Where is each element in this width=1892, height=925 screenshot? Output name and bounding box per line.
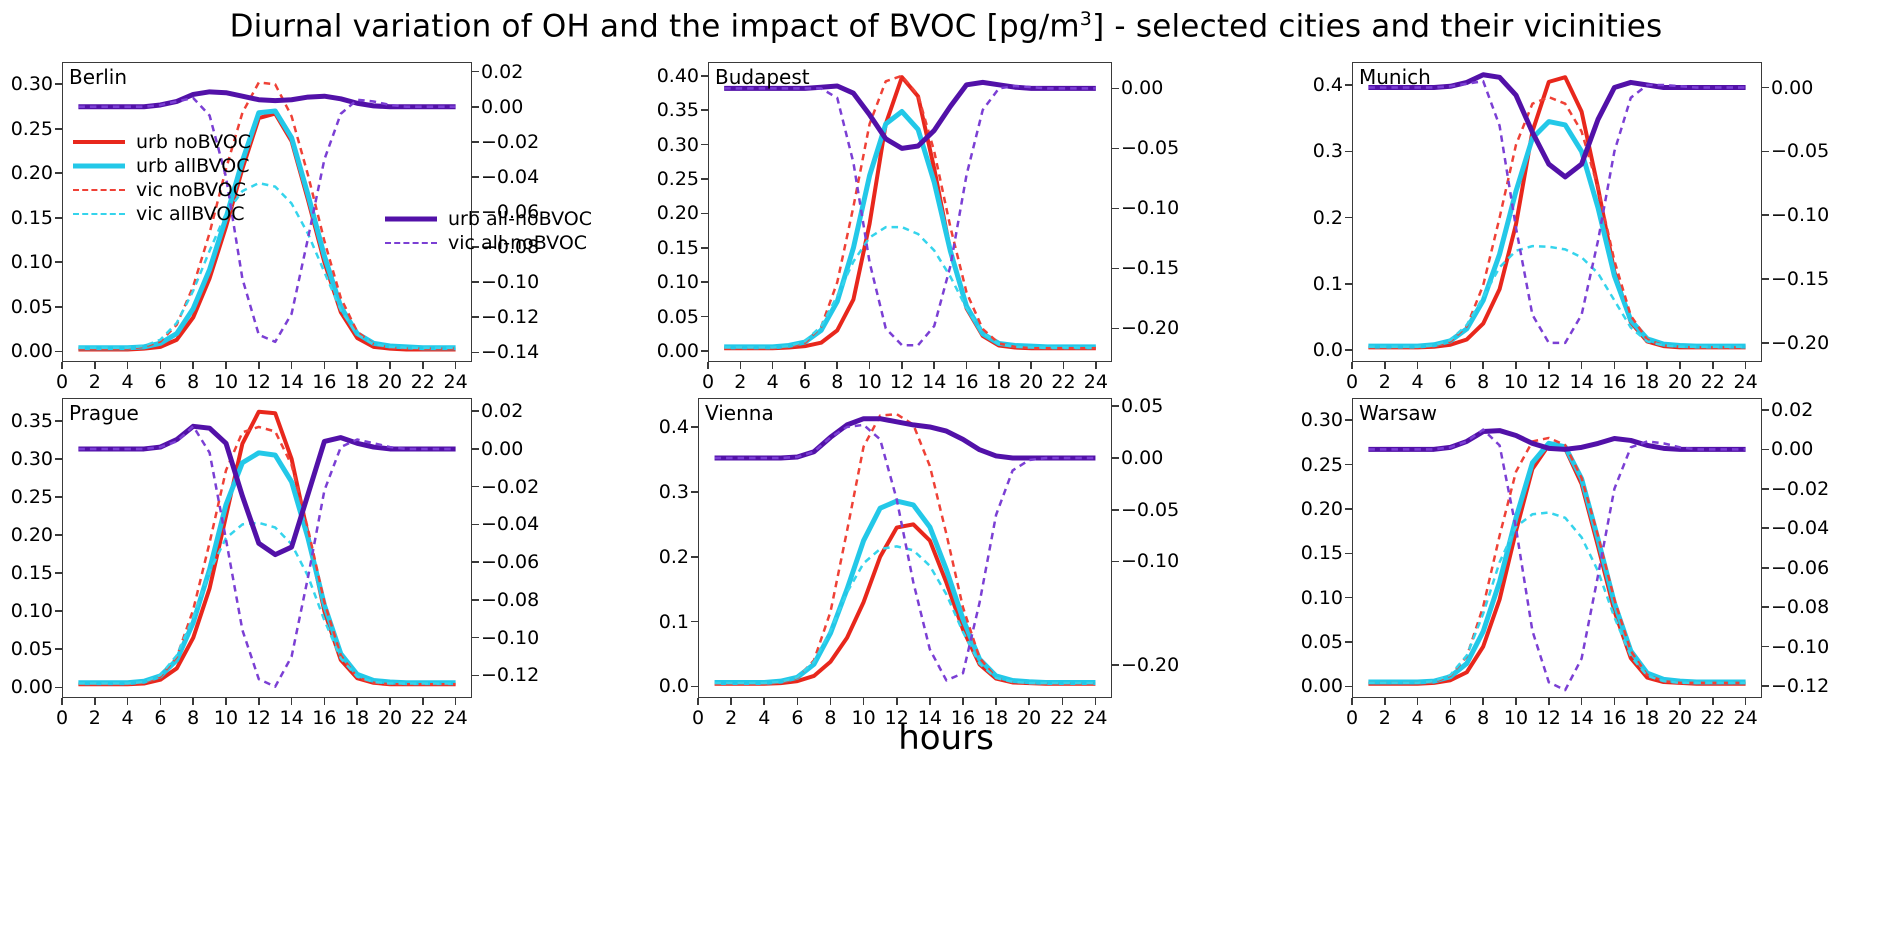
x-tick-mark xyxy=(863,698,865,705)
legend-label: urb allBVOC xyxy=(136,155,250,177)
x-tick-mark xyxy=(869,362,871,369)
y-tick-label-left: 0.20 xyxy=(1301,498,1343,520)
y-tick-label-left: 0.2 xyxy=(1313,207,1343,229)
x-tick-mark xyxy=(1351,362,1353,369)
y-tick-mark-left xyxy=(55,534,62,536)
x-tick-mark xyxy=(1745,362,1747,369)
x-tick-mark xyxy=(1417,362,1419,369)
series-line-vic-all-nobvoc xyxy=(1368,81,1745,343)
x-tick-label: 4 xyxy=(1412,371,1424,393)
y-tick-mark-left xyxy=(1345,217,1352,219)
x-tick-mark xyxy=(1646,362,1648,369)
legend-swatch-icon xyxy=(73,136,125,148)
series-line-vic-nobvoc xyxy=(78,427,455,684)
x-tick-mark xyxy=(1515,362,1517,369)
x-tick-mark xyxy=(160,362,162,369)
x-tick-label: 14 xyxy=(922,371,946,393)
y-tick-mark-right xyxy=(1762,449,1769,451)
x-tick-label: 0 xyxy=(1346,371,1358,393)
x-tick-label: 20 xyxy=(378,371,402,393)
x-tick-mark xyxy=(1450,698,1452,705)
y-tick-mark-right xyxy=(1112,561,1119,563)
y-tick-mark-right xyxy=(1762,278,1769,280)
x-tick-mark xyxy=(160,698,162,705)
x-tick-mark xyxy=(324,362,326,369)
x-tick-mark xyxy=(389,362,391,369)
x-tick-label: 24 xyxy=(444,371,468,393)
x-tick-mark xyxy=(1028,698,1030,705)
x-tick-mark xyxy=(389,698,391,705)
x-tick-label: 18 xyxy=(987,371,1011,393)
y-tick-mark-left xyxy=(691,686,698,688)
y-tick-label-left: 0.00 xyxy=(11,340,53,362)
panel-title-budapest: Budapest xyxy=(715,65,810,89)
y-tick-label-right: −0.12 xyxy=(481,664,539,686)
x-tick-label: 2 xyxy=(1379,371,1391,393)
y-tick-label-left: 0.30 xyxy=(657,134,699,156)
y-tick-mark-left xyxy=(691,491,698,493)
y-tick-mark-left xyxy=(1345,419,1352,421)
x-tick-mark xyxy=(1745,698,1747,705)
x-tick-mark xyxy=(896,698,898,705)
y-tick-label-right: −0.05 xyxy=(1121,137,1179,159)
x-tick-label: 2 xyxy=(89,371,101,393)
y-tick-mark-left xyxy=(1345,349,1352,351)
y-tick-label-right: −0.05 xyxy=(1771,140,1829,162)
y-tick-label-left: 0.05 xyxy=(657,306,699,328)
x-tick-mark xyxy=(356,362,358,369)
y-tick-mark-left xyxy=(1345,553,1352,555)
y-tick-label-left: 0.20 xyxy=(11,524,53,546)
y-tick-label-left: 0.20 xyxy=(11,162,53,184)
legend-swatch-icon xyxy=(385,213,437,225)
y-tick-mark-right xyxy=(472,524,479,526)
y-tick-mark-right xyxy=(472,106,479,108)
y-tick-mark-left xyxy=(691,426,698,428)
x-tick-label: 6 xyxy=(1444,371,1456,393)
y-tick-mark-right xyxy=(1112,457,1119,459)
y-tick-label-right: −0.02 xyxy=(1771,478,1829,500)
x-tick-label: 10 xyxy=(858,371,882,393)
x-tick-mark xyxy=(1581,362,1583,369)
y-tick-mark-right xyxy=(1762,87,1769,89)
y-tick-label-right: −0.14 xyxy=(481,341,539,363)
panel-vienna: Vienna0.00.10.20.30.40.050.00−0.05−0.10−… xyxy=(698,398,1112,698)
y-tick-mark-right xyxy=(1762,488,1769,490)
legend-label: urb noBVOC xyxy=(136,131,251,153)
y-tick-label-left: 0.25 xyxy=(11,118,53,140)
y-tick-mark-left xyxy=(701,178,708,180)
series-line-vic-all-nobvoc xyxy=(724,86,1096,345)
y-tick-label-right: −0.12 xyxy=(1771,675,1829,697)
figure-title-exponent: 3 xyxy=(1080,8,1092,30)
x-tick-mark xyxy=(61,362,63,369)
series-line-urb-all-nobvoc xyxy=(1368,431,1745,450)
panel-munich: Munich0.00.10.20.30.40.00−0.05−0.10−0.15… xyxy=(1352,62,1762,362)
x-tick-mark xyxy=(836,362,838,369)
y-tick-label-right: −0.10 xyxy=(1121,550,1179,572)
y-tick-mark-right xyxy=(1112,88,1119,90)
y-tick-label-right: 0.05 xyxy=(1121,395,1163,417)
figure-title-suffix: ] - selected cities and their vicinities xyxy=(1092,8,1662,44)
y-tick-label-left: 0.4 xyxy=(1313,74,1343,96)
x-tick-mark xyxy=(730,698,732,705)
y-tick-label-left: 0.0 xyxy=(659,675,689,697)
x-tick-label: 8 xyxy=(187,371,199,393)
y-tick-label-right: −0.20 xyxy=(1771,332,1829,354)
series-line-vic-allbvoc xyxy=(724,227,1096,347)
legend-label: vic allBVOC xyxy=(136,203,245,225)
y-tick-mark-left xyxy=(1345,508,1352,510)
y-axis-right-budapest: 0.00−0.05−0.10−0.15−0.20 xyxy=(1121,62,1199,362)
x-tick-mark xyxy=(804,362,806,369)
y-tick-mark-right xyxy=(1112,268,1119,270)
y-tick-label-right: −0.04 xyxy=(1771,517,1829,539)
x-tick-mark xyxy=(1417,698,1419,705)
x-tick-label: 14 xyxy=(1570,371,1594,393)
y-tick-label-right: −0.06 xyxy=(1771,557,1829,579)
x-tick-label: 12 xyxy=(1537,371,1561,393)
x-tick-mark xyxy=(1482,698,1484,705)
x-tick-label: 20 xyxy=(1019,371,1043,393)
x-tick-mark xyxy=(1063,362,1065,369)
y-tick-mark-right xyxy=(1112,148,1119,150)
y-tick-mark-left xyxy=(55,496,62,498)
panel-title-berlin: Berlin xyxy=(69,65,127,89)
y-axis-right-vienna: 0.050.00−0.05−0.10−0.20 xyxy=(1121,398,1199,698)
x-tick-label: 22 xyxy=(1051,371,1075,393)
legend-entry: urb all-noBVOC xyxy=(385,207,592,231)
y-tick-label-right: −0.08 xyxy=(1771,596,1829,618)
x-tick-mark xyxy=(1712,362,1714,369)
y-tick-mark-left xyxy=(1345,283,1352,285)
legend-swatch-icon xyxy=(385,237,437,249)
panel-title-vienna: Vienna xyxy=(705,401,774,425)
x-tick-label: 16 xyxy=(1602,371,1626,393)
y-tick-mark-right xyxy=(472,675,479,677)
x-tick-mark xyxy=(1351,698,1353,705)
y-tick-label-right: −0.02 xyxy=(481,476,539,498)
y-tick-label-right: −0.15 xyxy=(1121,257,1179,279)
y-tick-label-left: 0.15 xyxy=(11,207,53,229)
y-tick-label-right: −0.15 xyxy=(1771,268,1829,290)
y-tick-label-right: 0.00 xyxy=(481,438,523,460)
x-tick-label: 24 xyxy=(1084,371,1108,393)
y-tick-mark-left xyxy=(701,350,708,352)
y-tick-label-left: 0.30 xyxy=(1301,409,1343,431)
series-line-urb-nobvoc xyxy=(1368,445,1745,684)
y-tick-mark-right xyxy=(1762,409,1769,411)
y-tick-mark-left xyxy=(701,247,708,249)
x-tick-mark xyxy=(1095,698,1097,705)
x-tick-label: 4 xyxy=(122,371,134,393)
y-tick-mark-left xyxy=(1345,641,1352,643)
y-tick-label-right: −0.10 xyxy=(1771,204,1829,226)
y-tick-mark-right xyxy=(472,486,479,488)
series-line-urb-allbvoc xyxy=(1368,443,1745,682)
series-line-vic-all-nobvoc xyxy=(78,426,455,686)
x-tick-mark xyxy=(966,362,968,369)
y-tick-label-left: 0.05 xyxy=(11,296,53,318)
y-tick-mark-left xyxy=(701,144,708,146)
legend-entry: urb allBVOC xyxy=(73,154,251,178)
x-tick-label: 16 xyxy=(312,371,336,393)
legend-entry: vic noBVOC xyxy=(73,178,251,202)
x-tick-mark xyxy=(1614,698,1616,705)
series-canvas xyxy=(698,398,1112,698)
x-tick-mark xyxy=(998,362,1000,369)
y-tick-mark-left xyxy=(691,621,698,623)
legend-secondary: urb all-noBVOCvic all-noBVOC xyxy=(385,207,592,255)
x-axis-label: hours xyxy=(0,718,1892,758)
y-axis-left-prague: 0.000.050.100.150.200.250.300.35 xyxy=(0,398,53,698)
y-tick-label-right: −0.04 xyxy=(481,166,539,188)
y-tick-mark-left xyxy=(55,420,62,422)
y-tick-label-right: −0.10 xyxy=(1121,197,1179,219)
y-tick-mark-right xyxy=(472,561,479,563)
x-tick-label: 0 xyxy=(56,371,68,393)
y-tick-mark-right xyxy=(1762,214,1769,216)
y-tick-label-left: 0.3 xyxy=(1313,140,1343,162)
y-tick-label-right: −0.06 xyxy=(481,551,539,573)
x-tick-mark xyxy=(1030,362,1032,369)
x-tick-mark xyxy=(995,698,997,705)
series-line-vic-all-nobvoc xyxy=(715,425,1096,681)
x-tick-label: 24 xyxy=(1734,371,1758,393)
x-tick-mark xyxy=(1548,698,1550,705)
x-tick-mark xyxy=(929,698,931,705)
x-tick-mark xyxy=(291,698,293,705)
y-axis-left-munich: 0.00.10.20.30.4 xyxy=(1265,62,1343,362)
x-tick-mark xyxy=(830,698,832,705)
legend-label: vic noBVOC xyxy=(136,179,246,201)
y-tick-mark-right xyxy=(1762,606,1769,608)
y-tick-label-left: 0.05 xyxy=(11,638,53,660)
x-tick-label: 6 xyxy=(154,371,166,393)
y-tick-mark-left xyxy=(55,83,62,85)
x-tick-mark xyxy=(225,698,227,705)
y-tick-label-left: 0.4 xyxy=(659,416,689,438)
y-tick-mark-right xyxy=(1762,342,1769,344)
x-tick-label: 12 xyxy=(247,371,271,393)
y-tick-mark-left xyxy=(55,351,62,353)
x-tick-mark xyxy=(1384,698,1386,705)
x-tick-mark xyxy=(422,698,424,705)
x-tick-mark xyxy=(1384,362,1386,369)
series-canvas xyxy=(1352,62,1762,362)
y-tick-mark-left xyxy=(701,213,708,215)
y-tick-label-left: 0.10 xyxy=(11,251,53,273)
y-tick-mark-left xyxy=(55,610,62,612)
x-tick-mark xyxy=(962,698,964,705)
series-line-vic-allbvoc xyxy=(1368,513,1745,683)
y-tick-label-left: 0.10 xyxy=(1301,587,1343,609)
y-tick-mark-left xyxy=(55,687,62,689)
x-tick-mark xyxy=(707,362,709,369)
x-tick-label: 12 xyxy=(890,371,914,393)
y-tick-mark-left xyxy=(691,556,698,558)
panel-budapest: Budapest0.000.050.100.150.200.250.300.35… xyxy=(708,62,1112,362)
y-tick-mark-right xyxy=(1112,405,1119,407)
x-tick-mark xyxy=(1450,362,1452,369)
legend-label: vic all-noBVOC xyxy=(448,232,587,254)
y-tick-label-left: 0.25 xyxy=(11,486,53,508)
x-tick-mark xyxy=(258,362,260,369)
figure-root: Diurnal variation of OH and the impact o… xyxy=(0,0,1892,925)
y-tick-label-right: 0.00 xyxy=(1121,447,1163,469)
y-tick-label-left: 0.00 xyxy=(1301,675,1343,697)
x-tick-mark xyxy=(61,698,63,705)
y-tick-label-left: 0.40 xyxy=(657,65,699,87)
x-tick-label: 22 xyxy=(1701,371,1725,393)
y-tick-mark-left xyxy=(701,75,708,77)
figure-title: Diurnal variation of OH and the impact o… xyxy=(0,8,1892,44)
y-tick-label-left: 0.20 xyxy=(657,202,699,224)
y-tick-label-left: 0.30 xyxy=(11,73,53,95)
y-tick-label-right: −0.02 xyxy=(481,131,539,153)
y-tick-mark-right xyxy=(472,352,479,354)
y-tick-mark-left xyxy=(1345,464,1352,466)
y-tick-label-right: −0.08 xyxy=(481,589,539,611)
y-tick-label-left: 0.10 xyxy=(657,271,699,293)
series-line-urb-all-nobvoc xyxy=(78,92,455,107)
x-tick-label: 8 xyxy=(831,371,843,393)
y-tick-label-left: 0.00 xyxy=(11,676,53,698)
y-tick-label-right: 0.00 xyxy=(481,96,523,118)
x-tick-mark xyxy=(1679,698,1681,705)
x-tick-mark xyxy=(1095,362,1097,369)
x-tick-mark xyxy=(455,698,457,705)
series-line-vic-nobvoc xyxy=(715,414,1096,684)
y-tick-mark-left xyxy=(55,458,62,460)
x-tick-mark xyxy=(933,362,935,369)
x-tick-label: 18 xyxy=(345,371,369,393)
y-tick-label-left: 0.1 xyxy=(1313,273,1343,295)
x-tick-mark xyxy=(901,362,903,369)
y-tick-label-left: 0.1 xyxy=(659,611,689,633)
x-tick-label: 22 xyxy=(411,371,435,393)
y-tick-mark-right xyxy=(472,316,479,318)
legend-entry: urb noBVOC xyxy=(73,130,251,154)
y-tick-label-right: −0.20 xyxy=(1121,654,1179,676)
y-tick-mark-left xyxy=(701,316,708,318)
y-axis-right-munich: 0.00−0.05−0.10−0.15−0.20 xyxy=(1771,62,1849,362)
legend-swatch-icon xyxy=(73,160,125,172)
y-tick-label-left: 0.15 xyxy=(11,562,53,584)
x-tick-mark xyxy=(1712,698,1714,705)
series-line-urb-allbvoc xyxy=(715,501,1096,682)
y-tick-mark-left xyxy=(1345,686,1352,688)
y-tick-label-right: −0.10 xyxy=(481,627,539,649)
x-tick-label: 14 xyxy=(280,371,304,393)
y-axis-right-warsaw: 0.020.00−0.02−0.04−0.06−0.08−0.10−0.12 xyxy=(1771,398,1849,698)
y-tick-label-right: 0.00 xyxy=(1771,438,1813,460)
y-tick-mark-right xyxy=(472,599,479,601)
y-tick-label-left: 0.25 xyxy=(1301,454,1343,476)
legend-label: urb all-noBVOC xyxy=(448,208,592,230)
x-tick-label: 16 xyxy=(954,371,978,393)
x-tick-mark xyxy=(291,362,293,369)
y-tick-mark-left xyxy=(55,128,62,130)
y-tick-mark-left xyxy=(55,306,62,308)
panel-title-warsaw: Warsaw xyxy=(1359,401,1437,425)
x-tick-mark xyxy=(356,698,358,705)
y-tick-label-right: −0.05 xyxy=(1121,499,1179,521)
y-tick-label-left: 0.35 xyxy=(657,99,699,121)
y-tick-label-right: −0.04 xyxy=(481,513,539,535)
y-tick-label-right: 0.02 xyxy=(481,400,523,422)
y-tick-label-right: 0.00 xyxy=(1771,77,1813,99)
y-tick-label-left: 0.3 xyxy=(659,481,689,503)
x-tick-mark xyxy=(772,362,774,369)
y-axis-right-prague: 0.020.00−0.02−0.04−0.06−0.08−0.10−0.12 xyxy=(481,398,559,698)
y-tick-mark-left xyxy=(1345,84,1352,86)
y-tick-mark-right xyxy=(472,637,479,639)
y-tick-label-right: −0.12 xyxy=(481,306,539,328)
x-tick-mark xyxy=(324,698,326,705)
y-tick-label-left: 0.30 xyxy=(11,448,53,470)
x-tick-label: 4 xyxy=(767,371,779,393)
x-tick-mark xyxy=(1515,698,1517,705)
y-tick-label-left: 0.15 xyxy=(657,237,699,259)
legend-primary: urb noBVOCurb allBVOCvic noBVOCvic allBV… xyxy=(73,130,251,226)
x-tick-mark xyxy=(192,698,194,705)
x-tick-mark xyxy=(422,362,424,369)
y-tick-mark-right xyxy=(1112,208,1119,210)
legend-swatch-icon xyxy=(73,208,125,220)
y-tick-mark-left xyxy=(701,109,708,111)
y-tick-label-left: 0.00 xyxy=(657,340,699,362)
x-tick-mark xyxy=(1062,698,1064,705)
series-canvas xyxy=(1352,398,1762,698)
y-tick-mark-right xyxy=(472,176,479,178)
legend-entry: vic allBVOC xyxy=(73,202,251,226)
x-tick-mark xyxy=(94,698,96,705)
y-tick-mark-left xyxy=(1345,151,1352,153)
y-tick-mark-right xyxy=(1112,509,1119,511)
series-canvas xyxy=(708,62,1112,362)
y-tick-mark-left xyxy=(701,281,708,283)
y-tick-mark-left xyxy=(55,572,62,574)
series-line-urb-allbvoc xyxy=(1368,122,1745,347)
y-tick-mark-right xyxy=(472,448,479,450)
y-tick-mark-left xyxy=(55,261,62,263)
y-tick-label-left: 0.10 xyxy=(11,600,53,622)
y-tick-mark-right xyxy=(1762,685,1769,687)
x-tick-mark xyxy=(1581,698,1583,705)
x-tick-mark xyxy=(697,698,699,705)
y-axis-left-warsaw: 0.000.050.100.150.200.250.30 xyxy=(1265,398,1343,698)
y-tick-label-right: 0.00 xyxy=(1121,77,1163,99)
x-tick-label: 20 xyxy=(1668,371,1692,393)
x-tick-mark xyxy=(1482,362,1484,369)
x-tick-label: 2 xyxy=(734,371,746,393)
panel-title-prague: Prague xyxy=(69,401,139,425)
x-tick-label: 8 xyxy=(1477,371,1489,393)
y-tick-label-left: 0.2 xyxy=(659,546,689,568)
y-tick-label-left: 0.05 xyxy=(1301,631,1343,653)
y-tick-label-right: −0.10 xyxy=(1771,636,1829,658)
x-tick-mark xyxy=(1548,362,1550,369)
x-tick-label: 0 xyxy=(702,371,714,393)
panel-warsaw: Warsaw0.000.050.100.150.200.250.300.020.… xyxy=(1352,398,1762,698)
x-tick-label: 6 xyxy=(799,371,811,393)
figure-title-prefix: Diurnal variation of OH and the impact o… xyxy=(230,8,1080,44)
y-tick-mark-right xyxy=(472,410,479,412)
y-tick-mark-left xyxy=(55,172,62,174)
y-tick-mark-right xyxy=(472,71,479,73)
y-tick-mark-right xyxy=(1762,567,1769,569)
